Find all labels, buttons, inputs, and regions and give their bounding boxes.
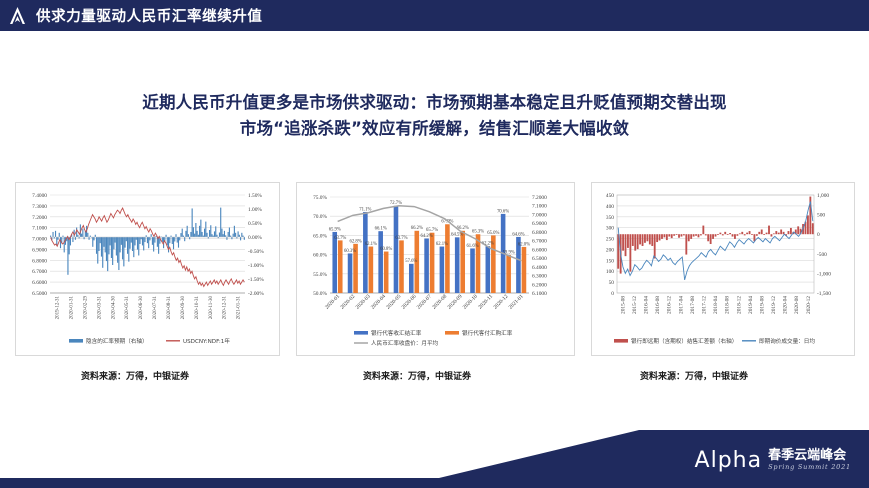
svg-text:7.2000: 7.2000 xyxy=(32,215,47,221)
svg-text:60.8%: 60.8% xyxy=(380,247,392,252)
svg-text:65.7%: 65.7% xyxy=(426,228,438,233)
svg-text:6.9000: 6.9000 xyxy=(532,221,547,227)
svg-text:2018-12: 2018-12 xyxy=(736,296,742,314)
svg-text:6.3000: 6.3000 xyxy=(532,274,547,280)
svg-text:-1.00%: -1.00% xyxy=(248,263,264,269)
svg-text:2020-09: 2020-09 xyxy=(447,293,464,310)
page-title-line2: 市场“追涨杀跌”效应有所缓解，结售汇顺差大幅收敛 xyxy=(0,116,869,142)
svg-text:66.2%: 66.2% xyxy=(411,226,423,231)
svg-text:-500: -500 xyxy=(817,252,827,258)
svg-text:62.8%: 62.8% xyxy=(350,239,362,244)
svg-text:2020-07: 2020-07 xyxy=(416,293,433,310)
svg-text:银行代客收汇结汇率: 银行代客收汇结汇率 xyxy=(371,329,422,337)
svg-text:2020-12: 2020-12 xyxy=(806,296,812,314)
chart-1-canvas: 6.50006.60006.70006.80006.90007.00007.10… xyxy=(16,183,279,355)
chart-2-canvas: 50.0%55.0%60.0%65.0%70.0%75.0%6.10006.20… xyxy=(297,183,574,355)
svg-text:65.9%: 65.9% xyxy=(329,227,341,232)
svg-text:6.6000: 6.6000 xyxy=(32,280,47,286)
svg-text:66.1%: 66.1% xyxy=(375,227,387,232)
footer-band xyxy=(0,478,869,488)
svg-text:64.2%: 64.2% xyxy=(421,234,433,239)
svg-text:75.0%: 75.0% xyxy=(313,195,327,201)
source-caption-1: 资料来源：万得，中银证券 xyxy=(81,369,189,382)
svg-text:57.6%: 57.6% xyxy=(405,259,417,264)
chart-panel-3: 050100150200250300350400450-1,500-1,000-… xyxy=(591,182,855,356)
svg-text:2020-12: 2020-12 xyxy=(493,293,510,310)
svg-text:2017-08: 2017-08 xyxy=(690,296,696,314)
svg-text:2020-05-31: 2020-05-31 xyxy=(125,296,130,320)
svg-text:7.1000: 7.1000 xyxy=(32,226,47,232)
svg-text:6.9000: 6.9000 xyxy=(32,247,47,253)
source-caption-2: 资料来源：万得，中银证券 xyxy=(363,369,471,382)
svg-text:2020-06: 2020-06 xyxy=(401,293,418,310)
footer-brand-en: Spring Summit 2021 xyxy=(768,463,851,472)
footer-brand-cn: 春季云端峰会 xyxy=(768,449,846,463)
svg-text:64.6%: 64.6% xyxy=(512,232,524,237)
svg-text:2020-10-31: 2020-10-31 xyxy=(195,296,200,320)
svg-text:62.1%: 62.1% xyxy=(436,242,448,247)
svg-text:-1.50%: -1.50% xyxy=(248,277,264,283)
svg-text:2019-04: 2019-04 xyxy=(748,296,754,314)
svg-text:人民币汇率收盘价：月平均: 人民币汇率收盘价：月平均 xyxy=(371,339,439,347)
svg-text:350: 350 xyxy=(606,215,614,221)
svg-text:隐含的汇率预期（右轴）: 隐含的汇率预期（右轴） xyxy=(86,337,148,345)
svg-text:2020-02-29: 2020-02-29 xyxy=(83,296,88,320)
svg-text:2020-01-31: 2020-01-31 xyxy=(69,296,74,320)
svg-text:6.7000: 6.7000 xyxy=(532,239,547,245)
svg-text:7.4000: 7.4000 xyxy=(32,193,47,199)
svg-text:2021-01-31: 2021-01-31 xyxy=(237,296,242,320)
svg-text:1,000: 1,000 xyxy=(817,193,829,199)
svg-text:2021-01: 2021-01 xyxy=(508,293,525,310)
svg-text:2018-04: 2018-04 xyxy=(713,296,719,314)
svg-text:2019-08: 2019-08 xyxy=(759,296,765,314)
svg-text:50.0%: 50.0% xyxy=(313,291,327,297)
chart-panel-1: 6.50006.60006.70006.80006.90007.00007.10… xyxy=(15,182,280,356)
footer-brand: Alpha 春季云端峰会 Spring Summit 2021 xyxy=(695,449,851,472)
svg-text:7.0000: 7.0000 xyxy=(532,212,547,218)
svg-text:2020-04: 2020-04 xyxy=(783,296,789,314)
svg-text:2020-10: 2020-10 xyxy=(462,293,479,310)
svg-text:65.3%: 65.3% xyxy=(472,230,484,235)
svg-text:2020-02: 2020-02 xyxy=(339,293,356,310)
svg-text:2019-12-31: 2019-12-31 xyxy=(56,296,61,320)
svg-text:6.6000: 6.6000 xyxy=(532,247,547,253)
svg-text:55.0%: 55.0% xyxy=(313,272,327,278)
svg-text:62.0%: 62.0% xyxy=(518,242,530,247)
svg-text:2016-04: 2016-04 xyxy=(644,296,650,314)
svg-text:65.0%: 65.0% xyxy=(487,231,499,236)
svg-text:0.50%: 0.50% xyxy=(248,221,262,227)
svg-text:0: 0 xyxy=(817,232,820,238)
svg-text:63.7%: 63.7% xyxy=(334,236,346,241)
source-caption-3: 资料来源：万得，中银证券 xyxy=(640,369,748,382)
svg-text:-0.50%: -0.50% xyxy=(248,249,264,255)
svg-text:63.7%: 63.7% xyxy=(395,236,407,241)
svg-text:200: 200 xyxy=(606,247,614,253)
svg-text:64.5%: 64.5% xyxy=(451,233,463,238)
svg-text:50: 50 xyxy=(609,280,615,286)
chart-panel-2: 50.0%55.0%60.0%65.0%70.0%75.0%6.10006.20… xyxy=(296,182,575,356)
svg-text:2020-11-30: 2020-11-30 xyxy=(209,296,214,320)
svg-text:250: 250 xyxy=(606,237,614,243)
svg-text:即期询价成交量：日均: 即期询价成交量：日均 xyxy=(759,337,815,345)
svg-text:2020-08: 2020-08 xyxy=(794,296,800,314)
svg-text:6.5000: 6.5000 xyxy=(532,256,547,262)
footer-brand-alpha: Alpha xyxy=(695,450,763,472)
svg-text:2020-08-31: 2020-08-31 xyxy=(167,296,172,320)
svg-text:2020-09-30: 2020-09-30 xyxy=(181,296,186,320)
svg-text:2020-06-30: 2020-06-30 xyxy=(139,296,144,320)
svg-text:2020-12-31: 2020-12-31 xyxy=(223,296,228,320)
svg-text:0.00%: 0.00% xyxy=(248,235,262,241)
svg-text:62.1%: 62.1% xyxy=(365,242,377,247)
svg-text:银行代客付汇购汇率: 银行代客付汇购汇率 xyxy=(462,329,513,337)
svg-text:65.0%: 65.0% xyxy=(313,233,327,239)
svg-text:2016-08: 2016-08 xyxy=(655,296,661,314)
svg-text:7.2000: 7.2000 xyxy=(532,195,547,201)
svg-text:2016-12: 2016-12 xyxy=(667,296,673,314)
svg-text:1.00%: 1.00% xyxy=(248,207,262,213)
svg-text:2018-08: 2018-08 xyxy=(725,296,731,314)
svg-text:7.1000: 7.1000 xyxy=(532,204,547,210)
page-title-line1: 近期人民币升值更多是市场供求驱动：市场预期基本稳定且升贬值预期交替出现 xyxy=(0,90,869,116)
svg-text:61.6%: 61.6% xyxy=(466,244,478,249)
svg-text:70.6%: 70.6% xyxy=(497,209,509,214)
svg-text:6.8000: 6.8000 xyxy=(32,258,47,264)
svg-text:7.3000: 7.3000 xyxy=(32,204,47,210)
svg-text:-1,500: -1,500 xyxy=(817,291,831,297)
svg-text:6.4000: 6.4000 xyxy=(532,265,547,271)
svg-text:100: 100 xyxy=(606,269,614,275)
svg-text:2020-04: 2020-04 xyxy=(370,293,387,310)
svg-text:银行即远期（含期权）结售汇差额（右轴）: 银行即远期（含期权）结售汇差额（右轴） xyxy=(631,337,737,345)
mountain-logo-icon xyxy=(0,0,34,31)
svg-text:-2.00%: -2.00% xyxy=(248,291,264,297)
svg-text:0: 0 xyxy=(611,291,614,297)
svg-text:450: 450 xyxy=(606,193,614,199)
svg-text:2020-03-31: 2020-03-31 xyxy=(97,296,102,320)
svg-text:1.50%: 1.50% xyxy=(248,193,262,199)
svg-text:2020-11: 2020-11 xyxy=(477,293,494,310)
svg-text:-1,000: -1,000 xyxy=(817,271,831,277)
header-title: 供求力量驱动人民币汇率继续升值 xyxy=(36,5,263,26)
page-header: 供求力量驱动人民币汇率继续升值 xyxy=(0,0,869,31)
svg-text:6.1000: 6.1000 xyxy=(532,291,547,297)
svg-text:2017-12: 2017-12 xyxy=(702,296,708,314)
page-title: 近期人民币升值更多是市场供求驱动：市场预期基本稳定且升贬值预期交替出现 市场“追… xyxy=(0,90,869,142)
svg-text:2019-12: 2019-12 xyxy=(771,296,777,314)
svg-text:300: 300 xyxy=(606,226,614,232)
svg-text:2015-12: 2015-12 xyxy=(632,296,638,314)
svg-text:6.2000: 6.2000 xyxy=(532,282,547,288)
chart-3-canvas: 050100150200250300350400450-1,500-1,000-… xyxy=(592,183,854,355)
svg-text:60.0%: 60.0% xyxy=(313,253,327,259)
svg-text:2015-08: 2015-08 xyxy=(620,296,626,314)
svg-text:2020-07-31: 2020-07-31 xyxy=(153,296,158,320)
svg-text:6.8000: 6.8000 xyxy=(532,230,547,236)
svg-text:2020-05: 2020-05 xyxy=(385,293,402,310)
svg-text:150: 150 xyxy=(606,258,614,264)
svg-text:2020-03: 2020-03 xyxy=(355,293,372,310)
svg-text:70.0%: 70.0% xyxy=(313,214,327,220)
svg-text:6.5000: 6.5000 xyxy=(32,291,47,297)
svg-text:7.0000: 7.0000 xyxy=(32,237,47,243)
svg-text:2020-08: 2020-08 xyxy=(431,293,448,310)
svg-text:500: 500 xyxy=(817,213,825,219)
svg-text:2020-04-30: 2020-04-30 xyxy=(111,296,116,320)
svg-text:6.7000: 6.7000 xyxy=(32,269,47,275)
svg-text:USDCNY:NDF:1年: USDCNY:NDF:1年 xyxy=(183,337,230,345)
svg-text:2017-04: 2017-04 xyxy=(678,296,684,314)
svg-text:400: 400 xyxy=(606,204,614,210)
svg-text:60.3%: 60.3% xyxy=(344,249,356,254)
